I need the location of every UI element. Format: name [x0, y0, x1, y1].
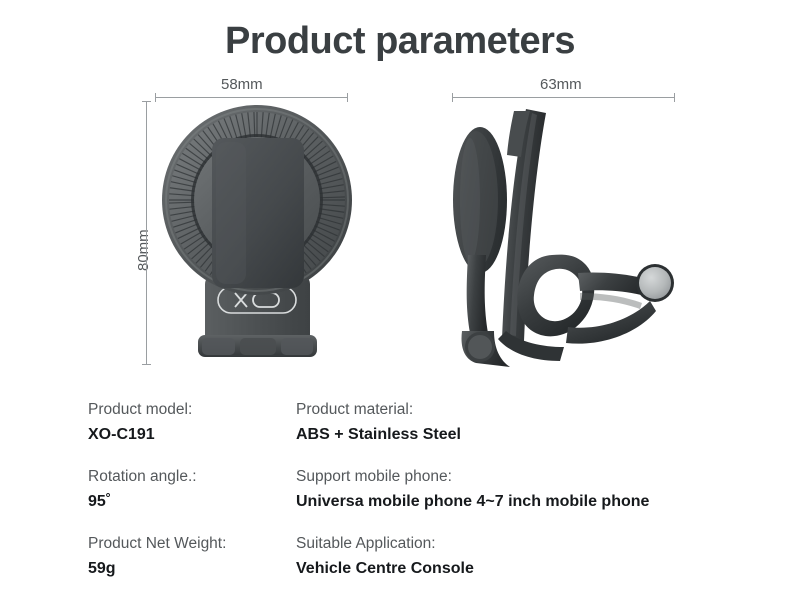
specifications-table: Product model: XO-C191 Rotation angle.: …: [0, 398, 800, 598]
spec-row-product-material: Product material: ABS + Stainless Steel: [296, 398, 766, 447]
phone-holder-side-view: [440, 95, 690, 375]
spec-value-product-model: XO-C191: [88, 422, 288, 447]
dimension-label-side-width: 63mm: [540, 76, 582, 93]
spec-label-net-weight: Product Net Weight:: [88, 532, 288, 556]
spec-column-right: Product material: ABS + Stainless Steel …: [296, 398, 766, 581]
spec-label-product-model: Product model:: [88, 398, 288, 422]
spec-row-rotation-angle: Rotation angle.: 95˚: [88, 465, 288, 514]
spec-value-rotation-angle: 95˚: [88, 489, 288, 514]
spec-value-support-mobile-phone: Universa mobile phone 4~7 inch mobile ph…: [296, 489, 766, 514]
side-view-pivot-cap: [639, 267, 671, 299]
spec-column-left: Product model: XO-C191 Rotation angle.: …: [88, 398, 288, 581]
spec-row-product-model: Product model: XO-C191: [88, 398, 288, 447]
spec-row-net-weight: Product Net Weight: 59g: [88, 532, 288, 581]
page-title: Product parameters: [0, 20, 800, 63]
spec-label-support-mobile-phone: Support mobile phone:: [296, 465, 766, 489]
spec-label-product-material: Product material:: [296, 398, 766, 422]
spec-value-net-weight: 59g: [88, 556, 288, 581]
spec-value-product-material: ABS + Stainless Steel: [296, 422, 766, 447]
spec-value-suitable-application: Vehicle Centre Console: [296, 556, 766, 581]
side-view-ring-stem: [467, 255, 488, 333]
spec-row-support-mobile-phone: Support mobile phone: Universa mobile ph…: [296, 465, 766, 514]
front-view-hinge: [198, 335, 317, 357]
dimension-line-front-width: [155, 97, 348, 98]
dimension-line-front-height: [146, 101, 147, 365]
spec-label-rotation-angle: Rotation angle.:: [88, 465, 288, 489]
phone-holder-front-view: [150, 100, 365, 370]
dimension-label-front-width: 58mm: [221, 76, 263, 93]
spec-row-suitable-application: Suitable Application: Vehicle Centre Con…: [296, 532, 766, 581]
spec-label-suitable-application: Suitable Application:: [296, 532, 766, 556]
